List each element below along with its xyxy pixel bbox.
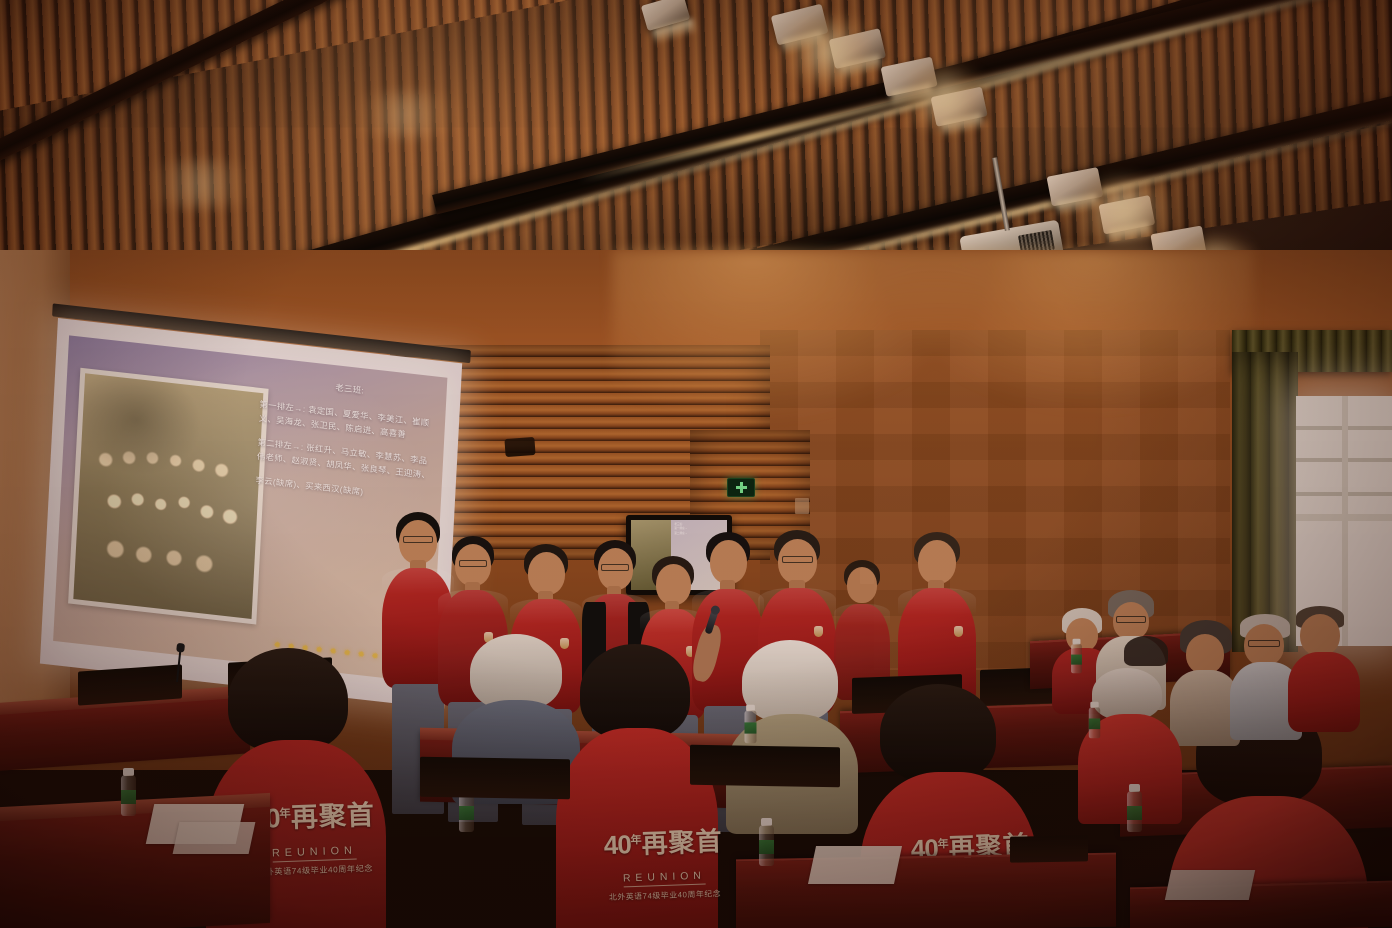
foreground-desk: [736, 853, 1116, 928]
water-bottle: [1126, 784, 1143, 832]
photo-scene: 老三班: 第一排左→: 袁定国、夏爱华、李美江、崔顺义、吴海龙、张卫民、陈启进、…: [0, 0, 1392, 928]
desk-divider-panel: [1010, 835, 1088, 862]
track-light-fixture: [641, 0, 690, 31]
wall-speaker: [504, 437, 535, 457]
chair-back: [420, 757, 570, 800]
eyeglasses: [782, 556, 813, 563]
slide-photo: [68, 367, 268, 624]
exit-sign-icon: [727, 478, 755, 497]
water-bottle: [1070, 639, 1082, 674]
water-bottle: [758, 818, 775, 866]
handout-paper: [173, 822, 256, 854]
water-bottle: [120, 768, 137, 816]
water-bottle: [1088, 702, 1101, 738]
eyeglasses: [403, 536, 433, 543]
chair-back: [690, 745, 840, 788]
eyeglasses: [601, 564, 629, 571]
water-bottle: [744, 705, 758, 743]
wall-plate: [795, 498, 809, 514]
handout-paper: [808, 846, 902, 884]
desk-divider-panel: [78, 664, 182, 705]
window-curtain: [1232, 352, 1298, 652]
eyeglasses: [1116, 616, 1146, 623]
slide-text-block: 老三班: 第一排左→: 袁定国、夏爱华、李美江、崔顺义、吴海龙、张卫民、陈启进、…: [255, 372, 439, 516]
shirt-badge: [814, 626, 823, 637]
handout-paper: [1165, 870, 1255, 900]
shirt-badge: [954, 626, 963, 637]
eyeglasses: [459, 560, 487, 567]
shirt-badge: [560, 638, 569, 649]
eyeglasses: [1248, 640, 1280, 647]
